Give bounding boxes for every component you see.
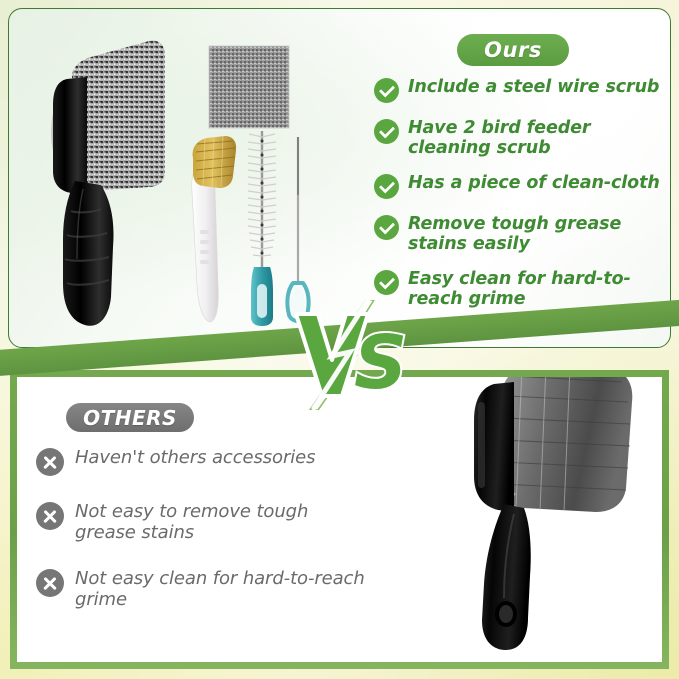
ours-badge: Ours <box>457 34 569 66</box>
check-circle-icon <box>374 270 399 295</box>
plain-tire-brush-image <box>442 377 662 652</box>
others-badge-label: OTHERS <box>83 406 177 430</box>
tire-brush-image <box>31 21 191 331</box>
x-circle-icon <box>36 448 64 476</box>
list-item: Have 2 bird feeder cleaning scrub <box>374 118 671 158</box>
brass-wire-brush-image <box>183 134 239 324</box>
ours-badge-label: Ours <box>484 38 542 62</box>
check-circle-icon <box>374 78 399 103</box>
list-item: Remove tough grease stains easily <box>374 214 671 254</box>
check-circle-icon <box>374 174 399 199</box>
list-item: Not easy to remove tough grease stains <box>36 501 366 543</box>
others-item-label: Not easy to remove tough grease stains <box>75 501 366 543</box>
others-item-label: Not easy clean for hard-to-reach grime <box>75 568 366 610</box>
check-circle-icon <box>374 215 399 240</box>
list-item: Has a piece of clean-cloth <box>374 173 671 199</box>
ours-item-label: Remove tough grease stains easily <box>408 214 671 254</box>
ours-panel: Ours Include a steel wire scrub Have 2 b… <box>8 8 671 348</box>
x-circle-icon <box>36 569 64 597</box>
list-item: Haven't others accessories <box>36 447 366 476</box>
wire-loop-brush-image <box>281 135 315 325</box>
list-item: Not easy clean for hard-to-reach grime <box>36 568 366 610</box>
others-feature-list: Haven't others accessories Not easy to r… <box>36 447 366 635</box>
infographic-canvas: Ours Include a steel wire scrub Have 2 b… <box>0 0 679 679</box>
versus-s-letter: S <box>354 320 407 406</box>
ours-item-label: Have 2 bird feeder cleaning scrub <box>408 118 671 158</box>
x-circle-icon <box>36 502 64 530</box>
ours-feature-list: Include a steel wire scrub Have 2 bird f… <box>374 77 671 324</box>
ours-item-label: Has a piece of clean-cloth <box>408 173 660 193</box>
versus-graphic: S <box>288 300 408 410</box>
cleaning-cloth-image <box>208 45 290 129</box>
list-item: Include a steel wire scrub <box>374 77 671 103</box>
check-circle-icon <box>374 119 399 144</box>
bottle-brush-image <box>241 127 283 327</box>
others-badge: OTHERS <box>66 403 194 432</box>
others-item-label: Haven't others accessories <box>75 447 315 468</box>
ours-item-label: Include a steel wire scrub <box>408 77 659 97</box>
